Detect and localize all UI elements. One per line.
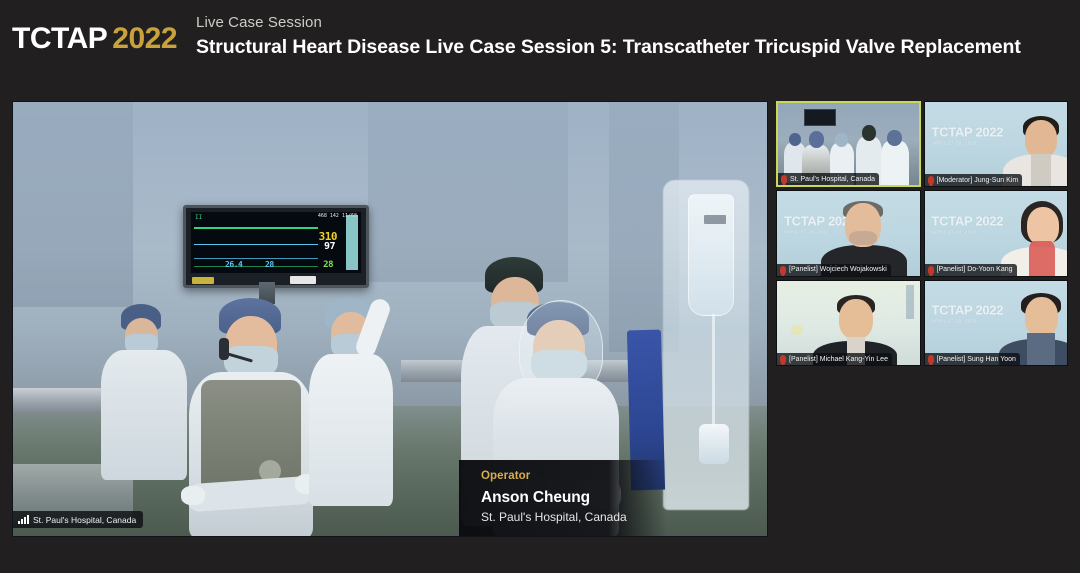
main-video-feed[interactable]: II 468 142 11/68 310 97 28 26.4 28 — [12, 101, 768, 537]
tile-name-badge: St. Paul's Hospital, Canada — [778, 173, 879, 185]
tctap-logo: TCTAP2022 — [12, 22, 177, 56]
patient-monitor: II 468 142 11/68 310 97 28 26.4 28 — [183, 205, 369, 288]
iv-bag-label — [704, 215, 726, 224]
iv-tube — [712, 314, 715, 426]
operator-affiliation: St. Paul's Hospital, Canada — [481, 509, 667, 525]
tile-room-monitor — [804, 109, 836, 126]
mic-muted-icon — [780, 355, 786, 363]
wall-panel-left — [13, 102, 133, 307]
monitor-resp-value: 28 — [323, 260, 333, 270]
broadcast-stage: II 468 142 11/68 310 97 28 26.4 28 — [0, 92, 1080, 573]
operator-role-label: Operator — [481, 469, 667, 483]
signal-bars-icon — [18, 515, 29, 524]
tile-room-head-5 — [887, 130, 902, 146]
monitor-button-center — [290, 276, 316, 284]
tile-name-label: [Panelist] Sung Han Yoon — [937, 355, 1016, 364]
monitor-pressure-right: 28 — [265, 260, 274, 269]
tile-name-badge: [Moderator] Jung-Sun Kim — [925, 174, 1023, 186]
headset-earpiece — [219, 338, 229, 360]
source-signal-badge: St. Paul's Hospital, Canada — [13, 511, 143, 528]
participant-grid: St. Paul's Hospital, Canada TCTAP 2022 A… — [776, 101, 1068, 366]
monitor-pressure-left: 26.4 — [225, 260, 242, 269]
monitor-spo2-value: 97 — [324, 241, 335, 252]
mic-muted-icon — [928, 266, 934, 274]
participant-tile-do-yoon-kang[interactable]: TCTAP 2022 APRIL 27-29, 2022 [Panelist] … — [924, 190, 1069, 276]
monitor-lead-label: II — [195, 214, 202, 221]
tile-name-label: [Panelist] Michael Kang-Yin Lee — [789, 355, 888, 364]
tile-background-decor — [906, 285, 914, 319]
tile-name-badge: [Panelist] Michael Kang-Yin Lee — [777, 353, 892, 365]
tile-room-head-3 — [835, 133, 848, 147]
patient-monitor-screen: II 468 142 11/68 310 97 28 26.4 28 — [191, 212, 361, 273]
tile-name-label: St. Paul's Hospital, Canada — [790, 175, 875, 184]
tile-room-head-4 — [862, 125, 876, 141]
iv-bag — [688, 194, 734, 316]
tile-name-label: [Panelist] Wojciech Wojakowski — [789, 265, 887, 274]
session-kicker: Live Case Session — [196, 14, 1021, 32]
wall-panel-mid — [368, 102, 568, 282]
tile-name-label: [Moderator] Jung-Sun Kim — [937, 176, 1019, 185]
lead-apron-vest — [201, 380, 301, 492]
mic-muted-icon — [780, 266, 786, 274]
operator-lower-third: Operator Anson Cheung St. Paul's Hospita… — [459, 460, 667, 536]
page-header: TCTAP2022 Live Case Session Structural H… — [0, 0, 1080, 92]
monitor-side-bar — [346, 215, 358, 270]
participant-tile-wojciech-wojakowski[interactable]: TCTAP 2022 APRIL 27-29, 2022 [Panelist] … — [776, 190, 921, 276]
tile-name-badge: [Panelist] Do-Yoon Kang — [925, 264, 1017, 276]
tile-background-decor-2 — [791, 325, 803, 335]
participant-tile-room[interactable]: St. Paul's Hospital, Canada — [776, 101, 921, 187]
operator-name: Anson Cheung — [481, 488, 667, 508]
monitor-button-left — [192, 277, 214, 284]
iv-drip-chamber — [699, 424, 729, 464]
participant-tile-jung-sun-kim[interactable]: TCTAP 2022 APRIL 27-29, 2022 [Moderator]… — [924, 101, 1069, 187]
logo-mark: TCTAP — [12, 22, 107, 55]
mic-muted-icon — [928, 355, 934, 363]
signal-badge-label: St. Paul's Hospital, Canada — [33, 515, 136, 525]
page-title: Structural Heart Disease Live Case Sessi… — [196, 35, 1021, 59]
mic-muted-icon — [781, 175, 787, 183]
tile-name-label: [Panelist] Do-Yoon Kang — [937, 265, 1013, 274]
participant-tile-sung-han-yoon[interactable]: TCTAP 2022 APRIL 27-29, 2022 [Panelist] … — [924, 280, 1069, 366]
tile-room-head-1 — [789, 133, 801, 146]
tile-room-head-2 — [809, 131, 824, 148]
session-title-block: Live Case Session Structural Heart Disea… — [196, 14, 1021, 59]
tile-name-badge: [Panelist] Wojciech Wojakowski — [777, 264, 891, 276]
participant-tile-michael-kang-yin-lee[interactable]: [Panelist] Michael Kang-Yin Lee — [776, 280, 921, 366]
mic-muted-icon — [928, 176, 934, 184]
logo-year: 2022 — [112, 22, 177, 55]
tile-name-badge: [Panelist] Sung Han Yoon — [925, 353, 1020, 365]
tile-room-figure-5 — [881, 141, 909, 187]
